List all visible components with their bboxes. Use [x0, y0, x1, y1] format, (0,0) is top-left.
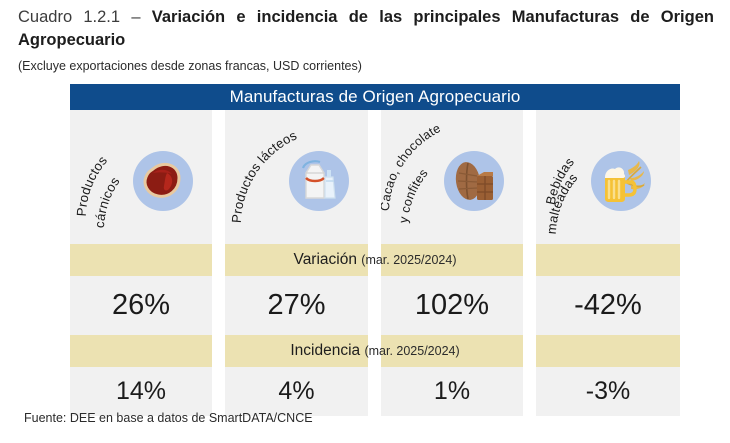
milk-carton-glyph	[289, 151, 349, 211]
band-cell	[225, 335, 368, 367]
column-label-line1: Productos	[74, 153, 110, 217]
cocoa-bean-chocolate-icon	[444, 151, 504, 211]
column-header-cacao-chocolate: Cacao, chocolate y confites	[381, 110, 523, 244]
band-cell	[70, 244, 212, 276]
variacion-values-row: 26% 27% 102% -42%	[70, 276, 680, 335]
meat-cut-icon	[133, 151, 193, 211]
variacion-value-cell: -42%	[536, 276, 680, 335]
table-figure-page: Cuadro 1.2.1 – Variación e incidencia de…	[0, 0, 730, 443]
band-cell	[381, 244, 523, 276]
column-label-line1: Bebidas	[543, 154, 578, 206]
column-gutter	[212, 244, 225, 276]
table-header-banner: Manufacturas de Origen Agropecuario	[70, 84, 680, 110]
band-cell	[70, 335, 212, 367]
column-gutter	[212, 110, 225, 244]
incidencia-value-cell: 4%	[225, 367, 368, 416]
page-subtitle: (Excluye exportaciones desde zonas franc…	[18, 58, 714, 74]
column-gutter	[368, 276, 381, 335]
cocoa-bean-chocolate-glyph	[444, 151, 504, 211]
column-label-line2: malteadas	[544, 170, 581, 235]
incidencia-values-row: 14% 4% 1% -3%	[70, 367, 680, 416]
column-gutter	[523, 367, 536, 416]
column-gutter	[212, 367, 225, 416]
column-gutter	[212, 276, 225, 335]
incidencia-value-cell: 14%	[70, 367, 212, 416]
figure-title-text: Variación e incidencia de las principale…	[18, 8, 714, 49]
figure-number: Cuadro 1.2.1	[18, 8, 120, 26]
column-label-line1: Cacao, chocolate	[381, 121, 443, 211]
variacion-band-cells	[70, 244, 680, 276]
title-dash: –	[131, 8, 140, 26]
band-cell	[536, 335, 680, 367]
band-cell	[381, 335, 523, 367]
column-gutter	[212, 335, 225, 367]
column-label-line2: y confites	[396, 166, 430, 224]
milk-carton-icon	[289, 151, 349, 211]
incidencia-band-cells	[70, 335, 680, 367]
beer-mug-wheat-glyph	[591, 151, 651, 211]
page-title: Cuadro 1.2.1 – Variación e incidencia de…	[18, 6, 714, 52]
title-block: Cuadro 1.2.1 – Variación e incidencia de…	[18, 6, 714, 74]
column-gutter	[523, 335, 536, 367]
column-gutter	[523, 244, 536, 276]
incidencia-value-cell: 1%	[381, 367, 523, 416]
column-gutter	[523, 276, 536, 335]
variacion-value-cell: 26%	[70, 276, 212, 335]
column-header-bebidas-malteadas: Bebidas malteadas	[536, 110, 680, 244]
band-cell	[536, 244, 680, 276]
column-gutter	[368, 367, 381, 416]
source-note: Fuente: DEE en base a datos de SmartDATA…	[24, 411, 313, 425]
table-icon-header-row: Productos cárnicos	[70, 110, 680, 244]
variacion-value-cell: 102%	[381, 276, 523, 335]
variacion-band: Variación (mar. 2025/2024)	[70, 244, 680, 276]
band-cell	[225, 244, 368, 276]
column-gutter	[368, 244, 381, 276]
column-header-productos-lacteos: Productos lácteos	[225, 110, 368, 244]
column-label-line2: cárnicos	[92, 174, 123, 229]
beer-mug-wheat-icon	[591, 151, 651, 211]
data-table: Manufacturas de Origen Agropecuario Prod…	[70, 84, 680, 416]
column-gutter	[368, 335, 381, 367]
incidencia-value-cell: -3%	[536, 367, 680, 416]
incidencia-band: Incidencia (mar. 2025/2024)	[70, 335, 680, 367]
column-gutter	[523, 110, 536, 244]
meat-cut-glyph	[133, 151, 193, 211]
variacion-value-cell: 27%	[225, 276, 368, 335]
column-header-productos-carnicos: Productos cárnicos	[70, 110, 212, 244]
column-gutter	[368, 110, 381, 244]
